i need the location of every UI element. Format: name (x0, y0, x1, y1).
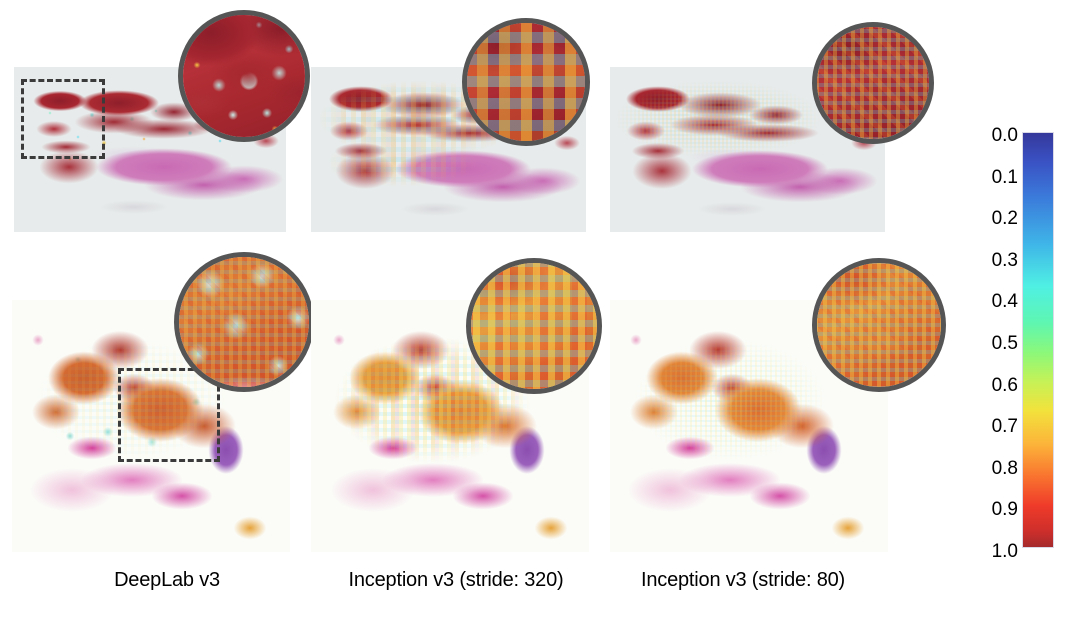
inset-fine-texture (812, 22, 934, 144)
colorbar-tick-10: 1.0 (992, 542, 1018, 561)
colorbar-gradient (1022, 132, 1054, 548)
figure-root: DeepLab v3 Inception v3 (stride: 320) In… (0, 0, 1080, 622)
magnifier-inset-row1-deeplab-v3[interactable] (178, 10, 310, 142)
magnifier-inset-row2-inception-v3-stride-80[interactable] (812, 258, 946, 392)
magnifier-inset-row2-deeplab-v3[interactable] (174, 252, 314, 392)
magnifier-inset-row1-inception-v3-stride-80[interactable] (812, 22, 934, 144)
colorbar-tick-4: 0.4 (992, 292, 1018, 311)
colorbar-tick-9: 0.9 (992, 500, 1018, 519)
colorbar-tick-1: 0.1 (992, 168, 1018, 187)
colorbar-tick-3: 0.3 (992, 251, 1018, 270)
inset-zoom-content (178, 10, 310, 142)
column-label-inception-v3-stride-80: Inception v3 (stride: 80) (610, 569, 876, 592)
colorbar-tick-8: 0.8 (992, 459, 1018, 478)
magnifier-inset-row1-inception-v3-stride-320[interactable] (462, 18, 590, 146)
column-label-deeplab-v3: DeepLab v3 (0, 569, 334, 592)
colorbar-tick-6: 0.6 (992, 376, 1018, 395)
colorbar: 0.0 0.1 0.2 0.3 0.4 0.5 0.6 0.7 0.8 0.9 … (980, 126, 1076, 556)
colorbar-tick-2: 0.2 (992, 209, 1018, 228)
inset-fine-texture (174, 252, 314, 392)
magnifier-inset-row2-inception-v3-stride-320[interactable] (466, 258, 602, 394)
colorbar-tick-5: 0.5 (992, 334, 1018, 353)
column-label-inception-v3-stride-320: Inception v3 (stride: 320) (300, 569, 612, 592)
colorbar-tick-7: 0.7 (992, 417, 1018, 436)
inset-blocky-texture (466, 258, 602, 394)
inset-fine-texture (812, 258, 946, 392)
inset-blocky-texture (462, 18, 590, 146)
colorbar-tick-0: 0.0 (992, 126, 1018, 145)
